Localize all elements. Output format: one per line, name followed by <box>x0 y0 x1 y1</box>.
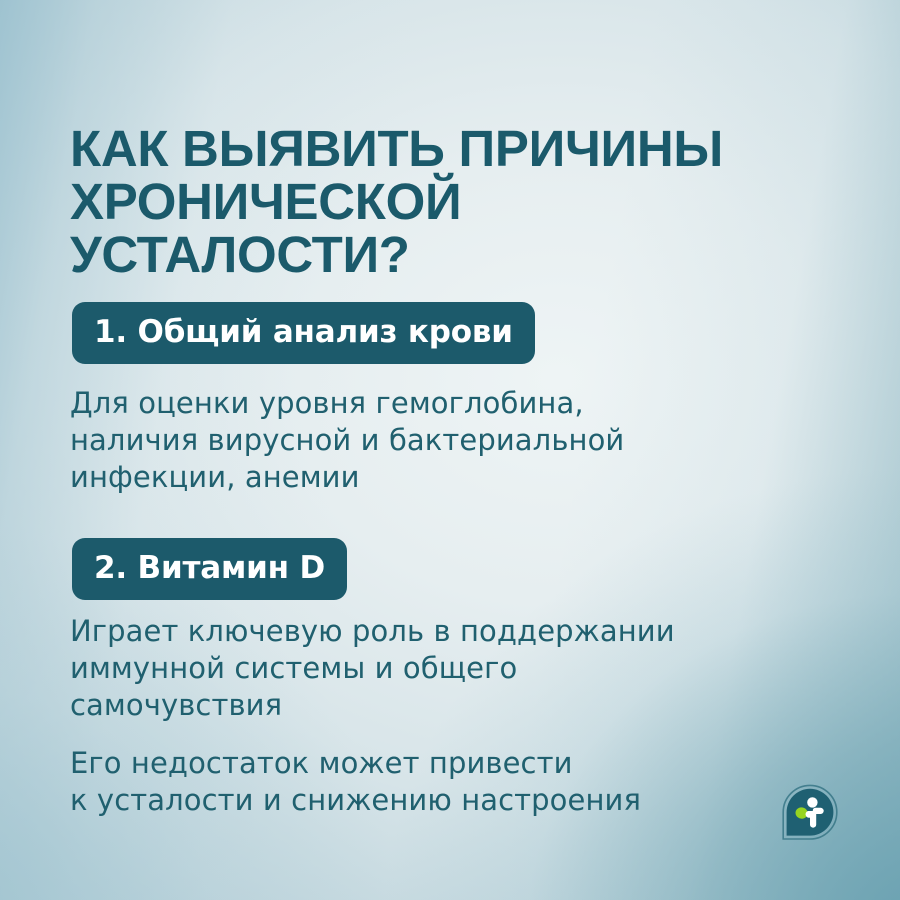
slide-content: КАК ВЫЯВИТЬ ПРИЧИНЫ ХРОНИЧЕСКОЙ УСТАЛОСТ… <box>0 0 900 900</box>
description-2-extra-line-1: Его недостаток может привести <box>70 745 641 782</box>
description-2-line-1: Играет ключевую роль в поддержании <box>70 613 675 650</box>
list-item-badge-1: 1. Общий анализ крови <box>72 302 535 364</box>
description-1-line-3: инфекции, анемии <box>70 459 624 496</box>
description-1-line-1: Для оценки уровня гемоглобина, <box>70 385 624 422</box>
list-item-badge-2: 2. Витамин D <box>72 538 347 600</box>
list-item-description-1: Для оценки уровня гемоглобина, наличия в… <box>70 385 624 496</box>
slide-canvas: КАК ВЫЯВИТЬ ПРИЧИНЫ ХРОНИЧЕСКОЙ УСТАЛОСТ… <box>0 0 900 900</box>
page-title-line-1: КАК ВЫЯВИТЬ ПРИЧИНЫ <box>70 122 870 175</box>
clinic-logo-icon <box>781 783 839 841</box>
list-item-description-2: Играет ключевую роль в поддержании иммун… <box>70 613 675 724</box>
page-title-line-3: УСТАЛОСТИ? <box>70 228 870 281</box>
description-1-line-2: наличия вирусной и бактериальной <box>70 422 624 459</box>
page-title-line-2: ХРОНИЧЕСКОЙ <box>70 175 870 228</box>
description-2-line-2: иммунной системы и общего <box>70 650 675 687</box>
page-title: КАК ВЫЯВИТЬ ПРИЧИНЫ ХРОНИЧЕСКОЙ УСТАЛОСТ… <box>70 122 870 281</box>
list-item-description-2-extra: Его недостаток может привести к усталост… <box>70 745 641 819</box>
clinic-logo <box>781 783 839 841</box>
description-2-extra-line-2: к усталости и снижению настроения <box>70 782 641 819</box>
description-2-line-3: самочувствия <box>70 687 675 724</box>
